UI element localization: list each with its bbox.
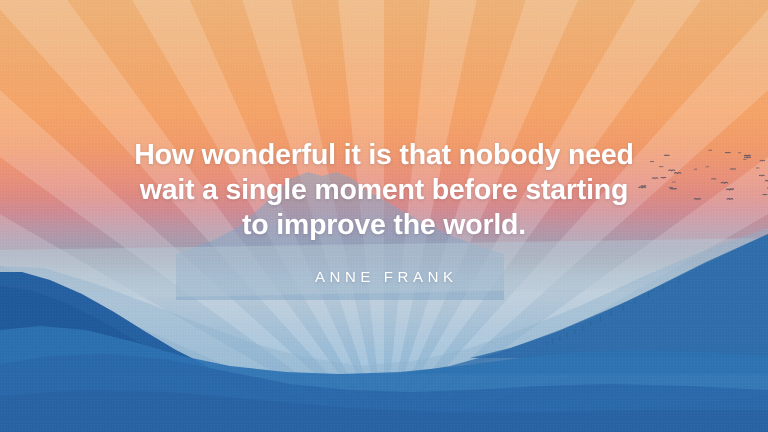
quote-line-3: to improve the world.: [80, 208, 688, 243]
quote-card: How wonderful it is that nobody need wai…: [0, 0, 768, 432]
quote-line-2: wait a single moment before starting: [80, 173, 688, 208]
quote-text: How wonderful it is that nobody need wai…: [0, 138, 768, 243]
quote-author: ANNE FRANK: [0, 269, 768, 286]
quote-text-block: How wonderful it is that nobody need wai…: [0, 138, 768, 286]
quote-line-1: How wonderful it is that nobody need: [80, 138, 688, 173]
